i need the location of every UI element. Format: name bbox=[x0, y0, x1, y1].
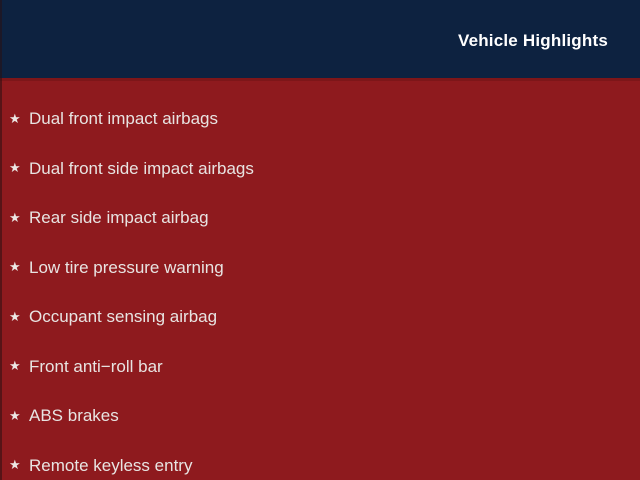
list-item: ★ABS brakes bbox=[0, 391, 640, 441]
list-item: ★Occupant sensing airbag bbox=[0, 292, 640, 342]
list-item-label: Rear side impact airbag bbox=[29, 209, 209, 226]
list-item-label: Low tire pressure warning bbox=[29, 259, 224, 276]
star-bullet-icon: ★ bbox=[9, 161, 29, 174]
highlights-list: ★Dual front impact airbags★Dual front si… bbox=[0, 94, 640, 480]
list-item: ★Low tire pressure warning bbox=[0, 243, 640, 293]
list-item-label: Dual front impact airbags bbox=[29, 110, 218, 127]
list-item: ★Remote keyless entry bbox=[0, 441, 640, 480]
page-title: Vehicle Highlights bbox=[458, 32, 608, 49]
star-bullet-icon: ★ bbox=[9, 112, 29, 125]
star-bullet-icon: ★ bbox=[9, 310, 29, 323]
list-item: ★Front anti−roll bar bbox=[0, 342, 640, 392]
star-bullet-icon: ★ bbox=[9, 260, 29, 273]
list-item-label: Occupant sensing airbag bbox=[29, 308, 217, 325]
list-item: ★Dual front side impact airbags bbox=[0, 144, 640, 194]
list-item-label: ABS brakes bbox=[29, 407, 119, 424]
vehicle-highlights-panel: Vehicle Highlights ★Dual front impact ai… bbox=[0, 0, 640, 480]
list-item: ★Rear side impact airbag bbox=[0, 193, 640, 243]
panel-header: Vehicle Highlights bbox=[0, 0, 640, 78]
list-item-label: Remote keyless entry bbox=[29, 457, 192, 474]
list-item-label: Front anti−roll bar bbox=[29, 358, 163, 375]
star-bullet-icon: ★ bbox=[9, 211, 29, 224]
list-item: ★Dual front impact airbags bbox=[0, 94, 640, 144]
highlights-body[interactable]: ★Dual front impact airbags★Dual front si… bbox=[0, 78, 640, 480]
list-item-label: Dual front side impact airbags bbox=[29, 160, 254, 177]
star-bullet-icon: ★ bbox=[9, 409, 29, 422]
star-bullet-icon: ★ bbox=[9, 359, 29, 372]
star-bullet-icon: ★ bbox=[9, 458, 29, 471]
